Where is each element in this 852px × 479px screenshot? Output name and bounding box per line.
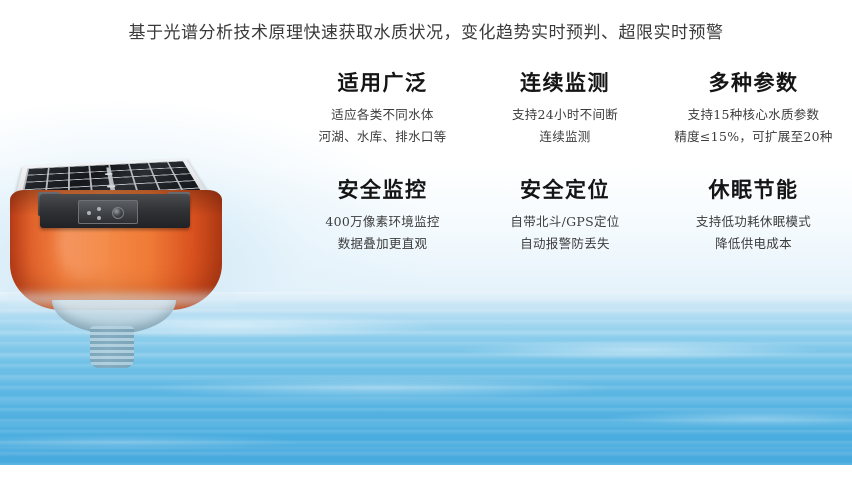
feature-card-applicability: 适用广泛 适应各类不同水体 河湖、水库、排水口等 <box>290 72 475 148</box>
feature-line: 精度≤15%，可扩展至20种 <box>655 126 852 148</box>
solar-panel-contact-lower <box>107 185 116 187</box>
buoy-device-illustration <box>8 112 236 362</box>
feature-line: 降低供电成本 <box>655 233 852 255</box>
feature-card-continuous-monitoring: 连续监测 支持24小时不间断 连续监测 <box>475 72 655 148</box>
feature-line: 400万像素环境监控 <box>290 211 475 233</box>
feature-line: 支持15种核心水质参数 <box>655 104 852 126</box>
feature-grid: 适用广泛 适应各类不同水体 河湖、水库、排水口等 连续监测 支持24小时不间断 … <box>290 72 852 255</box>
feature-title: 安全定位 <box>475 179 655 202</box>
camera-lens-icon <box>112 207 124 219</box>
solar-panel-contact-upper <box>105 173 113 175</box>
underwater-sensor-probe <box>90 326 134 368</box>
feature-line: 支持低功耗休眠模式 <box>655 211 852 233</box>
feature-title: 休眠节能 <box>655 179 852 202</box>
camera-led-top <box>97 207 101 211</box>
feature-line: 河湖、水库、排水口等 <box>290 126 475 148</box>
feature-title: 安全监控 <box>290 179 475 202</box>
bottom-white-strip <box>0 465 852 479</box>
feature-line: 数据叠加更直观 <box>290 233 475 255</box>
camera-module <box>78 200 138 224</box>
camera-led-left <box>87 211 91 215</box>
feature-line: 适应各类不同水体 <box>290 104 475 126</box>
feature-row-top: 适用广泛 适应各类不同水体 河湖、水库、排水口等 连续监测 支持24小时不间断 … <box>290 72 852 148</box>
waterline-blur <box>8 288 236 312</box>
camera-led-bottom <box>97 216 101 220</box>
feature-title: 连续监测 <box>475 72 655 95</box>
feature-card-power-saving: 休眠节能 支持低功耗休眠模式 降低供电成本 <box>655 179 852 255</box>
product-feature-poster: 基于光谱分析技术原理快速获取水质状况，变化趋势实时预判、超限实时预警 <box>0 0 852 479</box>
feature-line: 支持24小时不间断 <box>475 104 655 126</box>
page-headline: 基于光谱分析技术原理快速获取水质状况，变化趋势实时预判、超限实时预警 <box>0 18 852 43</box>
feature-row-bottom: 安全监控 400万像素环境监控 数据叠加更直观 安全定位 自带北斗/GPS定位 … <box>290 179 852 255</box>
feature-line: 自动报警防丢失 <box>475 233 655 255</box>
feature-line: 自带北斗/GPS定位 <box>475 211 655 233</box>
feature-card-security-monitoring: 安全监控 400万像素环境监控 数据叠加更直观 <box>290 179 475 255</box>
feature-title: 适用广泛 <box>290 72 475 95</box>
feature-card-multi-parameter: 多种参数 支持15种核心水质参数 精度≤15%，可扩展至20种 <box>655 72 852 148</box>
feature-title: 多种参数 <box>655 72 852 95</box>
feature-line: 连续监测 <box>475 126 655 148</box>
feature-card-positioning: 安全定位 自带北斗/GPS定位 自动报警防丢失 <box>475 179 655 255</box>
instrument-deck <box>40 194 190 228</box>
